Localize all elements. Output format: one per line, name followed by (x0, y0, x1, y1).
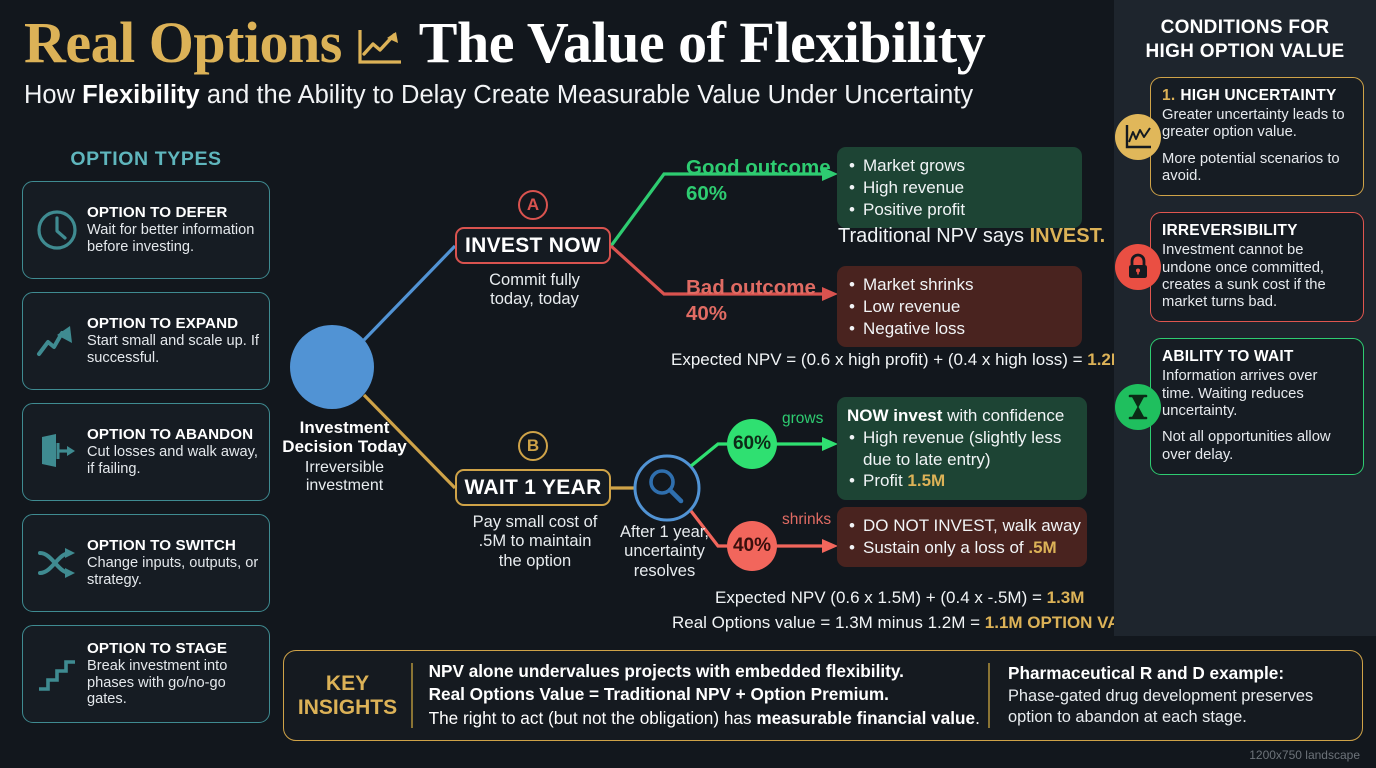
option-card-desc: Start small and scale up. If successful. (87, 333, 261, 367)
traditional-npv-verdict: INVEST. (1030, 225, 1106, 247)
conditions-panel: CONDITIONS FORHIGH OPTION VALUE 1.HIGH U… (1114, 0, 1376, 636)
outcome-item: Sustain only a loss of .5M (847, 537, 1075, 559)
option-card-desc: Change inputs, outputs, or strategy. (87, 555, 261, 589)
condition-title-text: IRREVERSIBILITY (1162, 222, 1298, 239)
key-insights-bar: KEYINSIGHTS NPV alone undervalues projec… (283, 650, 1363, 741)
probability-circle-grows: 60% (727, 419, 777, 469)
condition-title-text: HIGH UNCERTAINTY (1180, 87, 1336, 104)
key-insight-line: NPV alone undervalues projects with embe… (429, 660, 989, 683)
infographic-root: Real Options The Value of Flexibility Ho… (0, 0, 1376, 768)
page-title: Real Options The Value of Flexibility (24, 14, 1099, 72)
bad-outcome-pct: 40% (686, 302, 727, 326)
condition-paragraph: Information arrives over time. Waiting r… (1162, 368, 1352, 420)
condition-paragraph: Greater uncertainty leads to greater opt… (1162, 107, 1352, 142)
key-insight-line: The right to act (but not the obligation… (429, 707, 989, 730)
title-gold-part: Real Options (24, 10, 342, 75)
node-invest-now[interactable]: INVEST NOW (455, 227, 611, 264)
outcome-box-wait-grows: NOW invest with confidence High revenue … (837, 397, 1087, 500)
watermark: 1200x750 landscape (1249, 748, 1360, 762)
subtitle-part-2: and the Ability to Delay Create Measurab… (200, 81, 973, 109)
outcome-box-bad: Market shrinks Low revenue Negative loss (837, 266, 1082, 347)
option-card-switch[interactable]: OPTION TO SWITCH Change inputs, outputs,… (22, 514, 270, 612)
traditional-npv-statement: Traditional NPV says INVEST. (838, 225, 1105, 248)
condition-paragraph: More potential scenarios to avoid. (1162, 151, 1352, 186)
profit-label: Profit (863, 471, 907, 490)
outcome-item: Negative loss (847, 318, 1070, 340)
invest-now-caption: Commit fullytoday, today (447, 271, 622, 310)
outcome-item: High revenue (slightly less due to late … (847, 427, 1075, 471)
root-label-bold: InvestmentDecision Today (262, 418, 427, 457)
option-card-title: OPTION TO DEFER (87, 204, 261, 221)
traditional-npv-text: Traditional NPV says (838, 225, 1030, 247)
condition-body: Greater uncertainty leads to greater opt… (1162, 107, 1352, 185)
outcome-headline: NOW invest with confidence (847, 405, 1075, 427)
outcome-item: High revenue (847, 177, 1070, 199)
option-card-abandon[interactable]: OPTION TO ABANDON Cut losses and walk aw… (22, 403, 270, 501)
option-card-expand[interactable]: OPTION TO EXPAND Start small and scale u… (22, 292, 270, 390)
option-card-stage[interactable]: OPTION TO STAGE Break investment into ph… (22, 625, 270, 723)
subtitle-part-1: How (24, 81, 82, 109)
subtitle-emphasis: Flexibility (82, 81, 200, 109)
bad-outcome-label: Bad outcome (686, 276, 816, 300)
condition-title: IRREVERSIBILITY (1162, 222, 1352, 240)
line-chart-icon (356, 26, 404, 72)
root-node-label: InvestmentDecision Today Irreversibleinv… (262, 418, 427, 496)
expected-npv-b: Expected NPV (0.6 x 1.5M) + (0.4 x -.5M)… (715, 588, 1084, 608)
clock-icon (29, 202, 85, 258)
hourglass-icon (1115, 384, 1161, 430)
option-card-title: OPTION TO STAGE (87, 640, 261, 657)
option-card-desc: Wait for better information before inves… (87, 222, 261, 256)
conditions-heading: CONDITIONS FORHIGH OPTION VALUE (1126, 16, 1364, 63)
expected-npv-b-text: Expected NPV (0.6 x 1.5M) + (0.4 x -.5M)… (715, 588, 1047, 607)
key-insight-line: Real Options Value = Traditional NPV + O… (429, 683, 989, 706)
outcome-item: DO NOT INVEST, walk away (847, 515, 1075, 537)
condition-card-irreversibility[interactable]: IRREVERSIBILITY Investment cannot be und… (1150, 212, 1364, 322)
key-insights-list: NPV alone undervalues projects with embe… (413, 651, 989, 740)
real-options-text: Real Options value = 1.3M minus 1.2M = (672, 613, 985, 632)
outcome-item: Market shrinks (847, 274, 1070, 296)
title-white-part: The Value of Flexibility (419, 10, 985, 75)
probability-circle-shrinks: 40% (727, 521, 777, 571)
key-insights-example: Pharmaceutical R and D example: Phase-ga… (990, 651, 1362, 740)
outcome-box-good: Market grows High revenue Positive profi… (837, 147, 1082, 228)
example-body: Phase-gated drug development preserves o… (1008, 686, 1352, 727)
outcome-item: Market grows (847, 155, 1070, 177)
real-options-value-line: Real Options value = 1.3M minus 1.2M = 1… (672, 613, 1154, 633)
outcome-headline-rest: with confidence (942, 406, 1064, 425)
option-card-title: OPTION TO SWITCH (87, 537, 261, 554)
resolve-caption: After 1 year,uncertaintyresolves (598, 523, 731, 581)
condition-body: Investment cannot be undone once committ… (1162, 242, 1352, 311)
stairs-icon (29, 646, 85, 702)
root-label-sub: Irreversibleinvestment (262, 459, 427, 496)
condition-title: 1.HIGH UNCERTAINTY (1162, 87, 1352, 105)
page-subtitle: How Flexibility and the Ability to Delay… (24, 81, 1099, 110)
condition-number: 1. (1162, 87, 1175, 104)
node-wait-one-year[interactable]: WAIT 1 YEAR (455, 469, 611, 506)
exit-door-icon (29, 424, 85, 480)
outcome-box-wait-shrinks: DO NOT INVEST, walk away Sustain only a … (837, 507, 1087, 567)
trend-up-arrow-icon (29, 313, 85, 369)
branch-badge-b: B (518, 431, 548, 461)
expected-npv-a-text: Expected NPV = (0.6 x high profit) + (0.… (671, 350, 1087, 369)
option-card-defer[interactable]: OPTION TO DEFER Wait for better informat… (22, 181, 270, 279)
expected-npv-b-value: 1.3M (1047, 588, 1085, 607)
example-title: Pharmaceutical R and D example: (1008, 662, 1352, 684)
option-card-title: OPTION TO EXPAND (87, 315, 261, 332)
good-outcome-pct: 60% (686, 182, 727, 206)
outcome-headline-bold: NOW invest (847, 406, 942, 425)
condition-title-text: ABILITY TO WAIT (1162, 348, 1294, 365)
loss-label: Sustain only a loss of (863, 538, 1028, 557)
shuffle-arrows-icon (29, 535, 85, 591)
branch-badge-a: A (518, 190, 548, 220)
option-card-desc: Cut losses and walk away, if failing. (87, 444, 261, 478)
option-types-heading: OPTION TYPES (22, 148, 270, 171)
profit-value: 1.5M (907, 471, 945, 490)
key-insight-emphasis: measurable financial value (756, 708, 975, 728)
condition-body: Information arrives over time. Waiting r… (1162, 368, 1352, 463)
good-outcome-label: Good outcome (686, 156, 831, 180)
outcome-item: Profit 1.5M (847, 470, 1075, 492)
condition-title: ABILITY TO WAIT (1162, 348, 1352, 366)
header: Real Options The Value of Flexibility Ho… (24, 14, 1099, 110)
outcome-item: Positive profit (847, 199, 1070, 221)
option-types-sidebar: OPTION TYPES OPTION TO DEFER Wait for be… (22, 148, 270, 736)
blue-circle-node (290, 325, 374, 409)
volatility-chart-icon (1115, 114, 1161, 160)
loss-value: .5M (1028, 538, 1056, 557)
key-insights-label: KEYINSIGHTS (284, 651, 411, 740)
outcome-item: Low revenue (847, 296, 1070, 318)
key-insight-period: . (975, 708, 980, 728)
condition-paragraph: Investment cannot be undone once committ… (1162, 242, 1352, 311)
decision-tree: InvestmentDecision Today Irreversibleinv… (272, 132, 1112, 642)
lock-icon (1115, 244, 1161, 290)
condition-card-high-uncertainty[interactable]: 1.HIGH UNCERTAINTY Greater uncertainty l… (1150, 77, 1364, 196)
option-card-desc: Break investment into phases with go/no-… (87, 658, 261, 709)
option-card-title: OPTION TO ABANDON (87, 426, 261, 443)
expected-npv-a: Expected NPV = (0.6 x high profit) + (0.… (671, 350, 1125, 370)
shrinks-label: shrinks (782, 511, 831, 529)
grows-label: grows (782, 410, 823, 428)
key-insight-text: The right to act (but not the obligation… (429, 708, 757, 728)
condition-card-ability-to-wait[interactable]: ABILITY TO WAIT Information arrives over… (1150, 338, 1364, 474)
condition-paragraph: Not all opportunities allow over delay. (1162, 429, 1352, 464)
